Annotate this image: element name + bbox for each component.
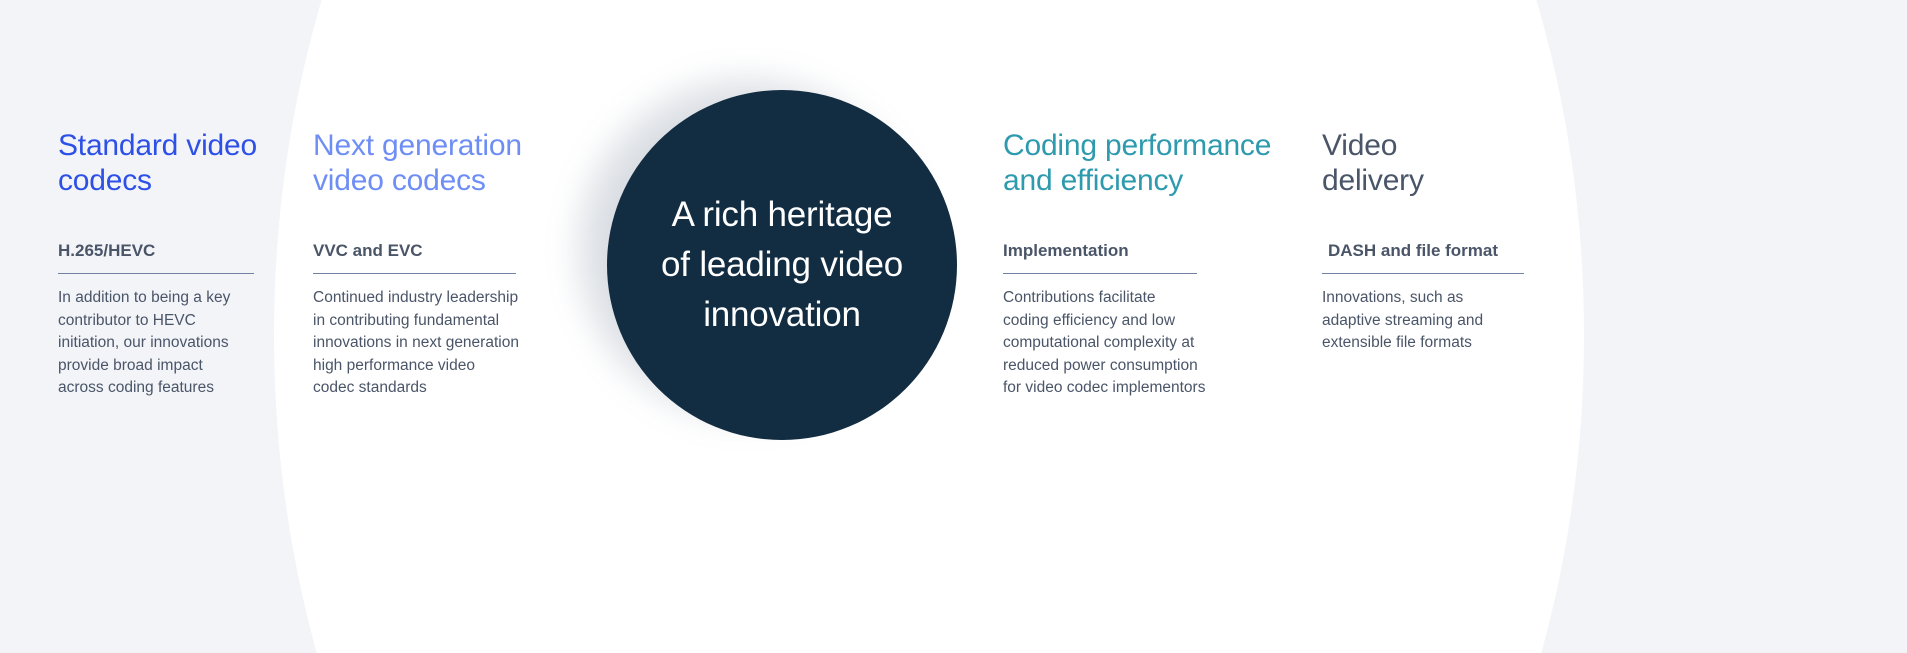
column-subtitle-rule: Implementation — [1003, 240, 1197, 274]
column-subtitle: Implementation — [1003, 240, 1197, 273]
column-body-text: Continued industry leadership in contrib… — [313, 274, 551, 400]
column-body-text: In addition to being a key contributor t… — [58, 274, 263, 400]
column-body-text: Contributions facilitate coding efficien… — [1003, 274, 1243, 400]
infographic-stage: Standard video codecs H.265/HEVC In addi… — [0, 0, 1907, 653]
column-next-generation-video-codecs: Next generation video codecs VVC and EVC… — [313, 128, 549, 400]
column-subtitle: H.265/HEVC — [58, 240, 254, 273]
column-subtitle-rule: DASH and file format — [1322, 240, 1524, 274]
column-heading: Standard video codecs — [58, 128, 270, 198]
column-standard-video-codecs: Standard video codecs H.265/HEVC In addi… — [58, 128, 270, 400]
column-coding-performance-and-efficiency: Coding performance and efficiency Implem… — [1003, 128, 1283, 400]
column-video-delivery: Video delivery DASH and file format Inno… — [1322, 128, 1532, 355]
column-subtitle-rule: VVC and EVC — [313, 240, 516, 274]
column-subtitle-rule: H.265/HEVC — [58, 240, 254, 274]
column-heading: Next generation video codecs — [313, 128, 549, 198]
column-heading: Video delivery — [1322, 128, 1532, 198]
columns-container: Standard video codecs H.265/HEVC In addi… — [0, 0, 1907, 653]
column-heading: Coding performance and efficiency — [1003, 128, 1283, 198]
column-body-text: Innovations, such as adaptive streaming … — [1322, 274, 1527, 355]
column-subtitle: DASH and file format — [1328, 240, 1524, 273]
column-subtitle: VVC and EVC — [313, 240, 516, 273]
